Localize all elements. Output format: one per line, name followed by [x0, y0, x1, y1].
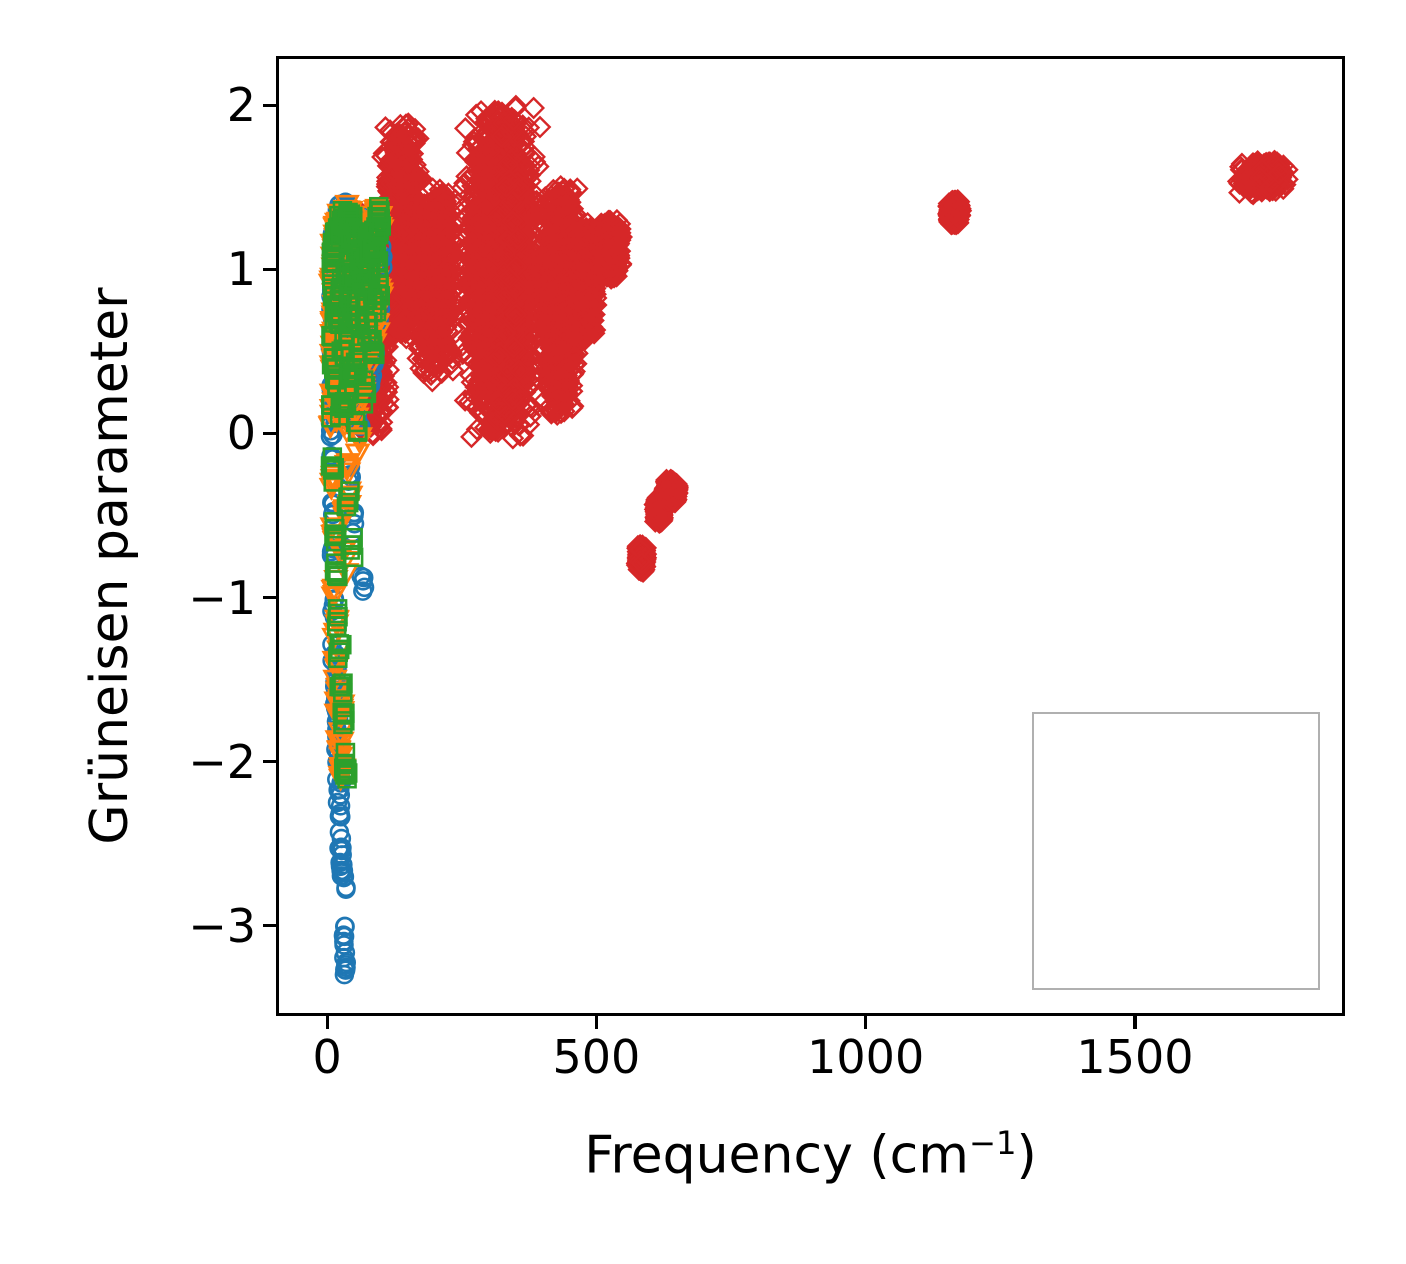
figure-canvas: 050010001500 210−1−2−3 Frequency (cm−1) … — [0, 0, 1406, 1264]
data-point-optical — [524, 98, 543, 117]
series-optical — [331, 96, 1297, 581]
